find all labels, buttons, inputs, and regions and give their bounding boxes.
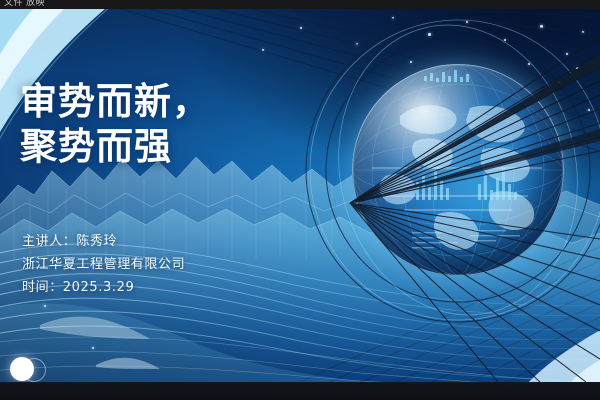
- slide-title: 审势而新， 聚势而强: [20, 79, 210, 169]
- converging-rays-layer: [0, 9, 600, 382]
- app-status-bar: [0, 382, 600, 400]
- slide-canvas[interactable]: 审势而新， 聚势而强 主讲人：陈秀玲 浙江华夏工程管理有限公司 时间：2025.…: [0, 9, 600, 382]
- slide-meta-block: 主讲人：陈秀玲 浙江华夏工程管理有限公司 时间：2025.3.29: [22, 231, 185, 299]
- presentation-window: 文件 放映: [0, 0, 600, 400]
- app-menu-label[interactable]: 文件 放映: [4, 0, 45, 8]
- app-title-bar: 文件 放映: [0, 0, 600, 9]
- accent-dot: [10, 357, 34, 381]
- date-line: 时间：2025.3.29: [22, 277, 185, 300]
- organization-line: 浙江华夏工程管理有限公司: [22, 254, 185, 277]
- slide-title-line-1: 审势而新，: [20, 79, 210, 124]
- slide-title-line-2: 聚势而强: [20, 124, 210, 169]
- presenter-line: 主讲人：陈秀玲: [22, 231, 185, 254]
